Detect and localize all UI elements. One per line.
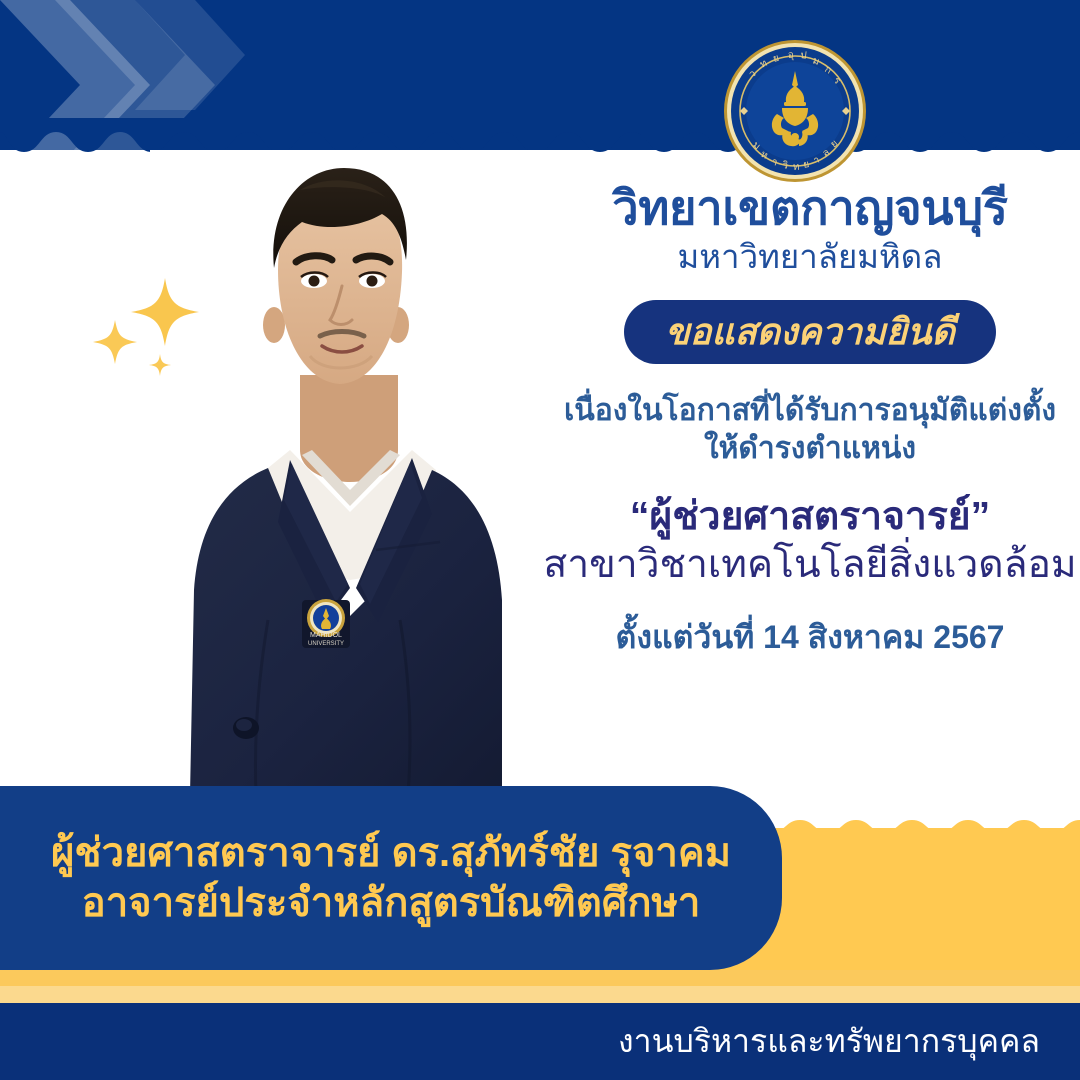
campus-title: วิทยาเขตกาญจนบุรี — [540, 182, 1080, 235]
header-band — [0, 0, 1080, 150]
university-name: มหาวิทยาลัยมหิดล — [540, 237, 1080, 277]
honoree-name-banner: ผู้ช่วยศาสตราจารย์ ดร.สุภัทร์ชัย รุจาคม … — [0, 786, 782, 970]
occasion-line-2: ให้ดำรงตำแหน่ง — [540, 430, 1080, 468]
mahidol-university-seal: ว ท ย อุ ป ม ก ร ม ห า วิ ท ย า ล ย — [722, 38, 868, 184]
congratulation-poster: ว ท ย อุ ป ม ก ร ม ห า วิ ท ย า ล ย — [0, 0, 1080, 1080]
footer-band: งานบริหารและทรัพยากรบุคคล — [0, 1003, 1080, 1080]
stripe-gold — [0, 970, 1080, 986]
svg-text:ท: ท — [793, 162, 800, 173]
announcement-text-column: วิทยาเขตกาญจนบุรี มหาวิทยาลัยมหิดล ขอแสด… — [540, 182, 1080, 657]
svg-text:MAHIDOL: MAHIDOL — [310, 632, 342, 639]
honoree-portrait: MAHIDOL UNIVERSITY — [150, 150, 550, 795]
honoree-name: ผู้ช่วยศาสตราจารย์ ดร.สุภัทร์ชัย รุจาคม — [51, 828, 731, 878]
congratulations-label: ขอแสดงความยินดี — [665, 314, 955, 350]
svg-text:ป: ป — [800, 50, 807, 62]
occasion-line-1: เนื่องในโอกาสที่ได้รับการอนุมัติแต่งตั้ง — [540, 392, 1080, 430]
position-title: “ผู้ช่วยศาสตราจารย์” — [540, 493, 1080, 541]
footer-department: งานบริหารและทรัพยากรบุคคล — [618, 1022, 1040, 1060]
effective-date: ตั้งแต่วันที่ 14 สิงหาคม 2567 — [540, 618, 1080, 656]
svg-text:อุ: อุ — [787, 50, 794, 61]
congratulations-badge: ขอแสดงความยินดี — [624, 300, 996, 364]
lapel-badge: MAHIDOL UNIVERSITY — [302, 599, 350, 648]
honoree-role: อาจารย์ประจำหลักสูตรบัณฑิตศึกษา — [82, 878, 701, 928]
svg-text:UNIVERSITY: UNIVERSITY — [308, 641, 344, 647]
occasion-text: เนื่องในโอกาสที่ได้รับการอนุมัติแต่งตั้ง… — [540, 392, 1080, 467]
stripe-gold-light — [0, 986, 1080, 1003]
position-field: สาขาวิชาเทคโนโลยีสิ่งแวดล้อม — [540, 541, 1080, 589]
